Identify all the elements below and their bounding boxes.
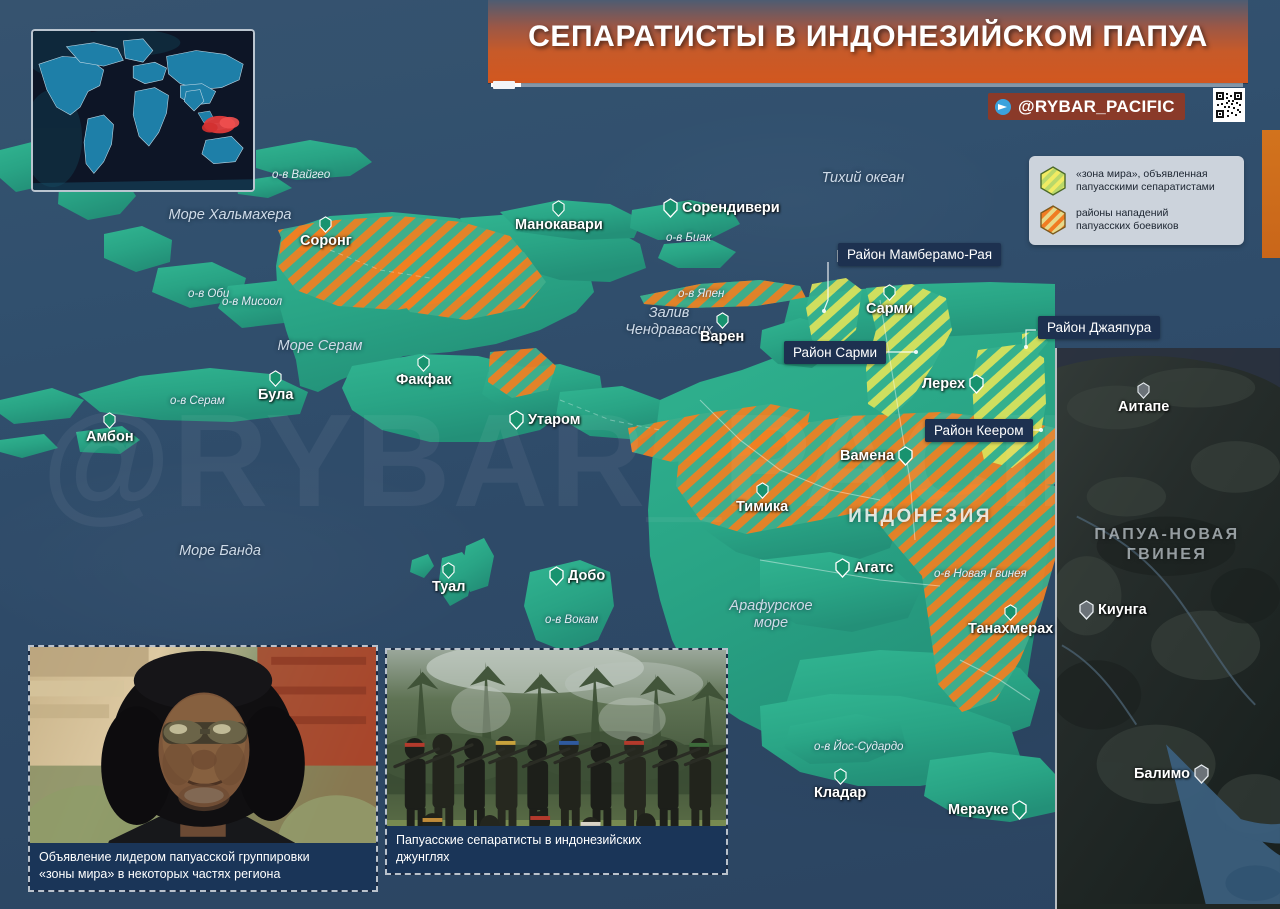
legend-item-peace-zone: «зона мира», объявленная папуасскими сеп… (1039, 166, 1234, 196)
legend-label-attack-zone: районы нападений папуасских боевиков (1076, 207, 1179, 233)
caption-fighters-line2: джунглях (396, 850, 450, 864)
map-legend: «зона мира», объявленная папуасскими сеп… (1029, 156, 1244, 245)
legend-peace-line2: папуасскими сепаратистами (1076, 181, 1215, 193)
papua-new-guinea-overlay (1055, 348, 1280, 909)
png-terrain (1057, 348, 1280, 904)
callout-sarmi-district[interactable]: Район Сарми (784, 341, 886, 364)
legend-attack-line1: районы нападений (1076, 207, 1168, 219)
callout-jayapura-district[interactable]: Район Джаяпура (1038, 316, 1160, 339)
legend-item-attack-zone: районы нападений папуасских боевиков (1039, 205, 1234, 235)
photo-separatist-leader[interactable]: Объявление лидером папуасской группировк… (28, 645, 378, 892)
world-map-svg (33, 31, 253, 190)
callout-keerom-district[interactable]: Район Кеером (925, 419, 1033, 442)
hex-swatch-peace-zone (1039, 166, 1067, 196)
progress-bar-track[interactable] (491, 83, 1243, 87)
qr-code-icon[interactable] (1213, 88, 1245, 122)
right-orange-accent-bar (1262, 130, 1280, 258)
legend-attack-line2: папуасских боевиков (1076, 220, 1179, 232)
hex-swatch-attack-zone (1039, 205, 1067, 235)
photo-caption-fighters: Папуасские сепаратисты в индонезийских д… (387, 826, 726, 874)
photo-separatist-fighters[interactable]: Папуасские сепаратисты в индонезийских д… (385, 648, 728, 875)
infographic-root: @RYBAR_PACIFIC (0, 0, 1280, 909)
world-locator-inset (31, 29, 255, 192)
callout-mamberamo-raya[interactable]: Район Мамберамо-Рая (838, 243, 1001, 266)
caption-leader-line2: «зоны мира» в некоторых частях региона (39, 867, 280, 881)
progress-bar-thumb[interactable] (493, 81, 515, 89)
legend-peace-line1: «зона мира», объявленная (1076, 168, 1208, 180)
page-title: СЕПАРАТИСТЫ В ИНДОНЕЗИЙСКОМ ПАПУА (488, 20, 1248, 54)
caption-fighters-line1: Папуасские сепаратисты в индонезийских (396, 833, 641, 847)
telegram-icon (995, 99, 1011, 115)
photo-caption-leader: Объявление лидером папуасской группировк… (30, 843, 376, 891)
qr-code-svg (1215, 90, 1243, 120)
caption-leader-line1: Объявление лидером папуасской группировк… (39, 850, 310, 864)
legend-label-peace-zone: «зона мира», объявленная папуасскими сеп… (1076, 168, 1215, 194)
telegram-handle-badge[interactable]: @RYBAR_PACIFIC (988, 93, 1185, 120)
title-banner: СЕПАРАТИСТЫ В ИНДОНЕЗИЙСКОМ ПАПУА (488, 0, 1248, 83)
telegram-handle-text: @RYBAR_PACIFIC (1018, 97, 1175, 117)
